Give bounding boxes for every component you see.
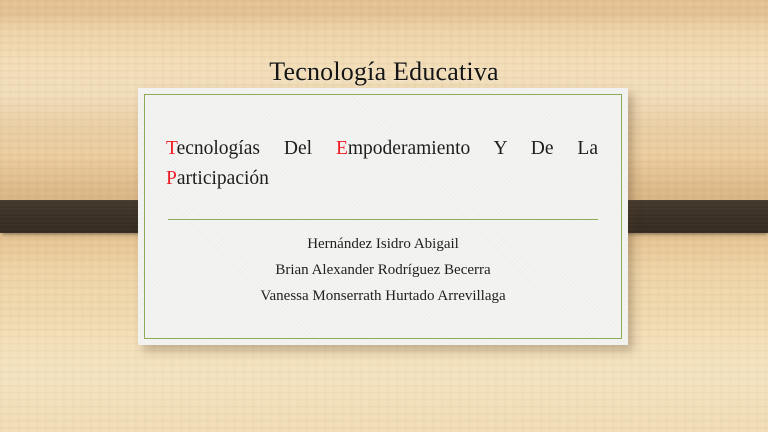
title-accent-letter: E <box>336 138 348 159</box>
list-item: Vanessa Monserrath Hurtado Arrevillaga <box>158 283 608 309</box>
card-body: Tecnologías Del Empoderamiento Y De La P… <box>138 88 628 345</box>
author-list: Hernández Isidro Abigail Brian Alexander… <box>158 231 608 309</box>
main-title-text: Tecnologías Del Empoderamiento Y De La P… <box>166 138 598 189</box>
decorative-bar-right <box>618 200 768 233</box>
list-item: Brian Alexander Rodríguez Becerra <box>158 257 608 283</box>
title-accent-letter: P <box>166 168 177 189</box>
title-segment: ecnologías Del <box>177 138 336 159</box>
title-segment: mpoderamiento Y De La <box>348 138 598 159</box>
title-segment: articipación <box>177 168 269 189</box>
slide-heading: Tecnología Educativa <box>0 56 768 88</box>
title-accent-letter: T <box>166 138 177 159</box>
main-title: Tecnologías Del Empoderamiento Y De La P… <box>166 134 598 194</box>
content-card: Tecnologías Del Empoderamiento Y De La P… <box>138 88 628 345</box>
presentation-slide: Tecnología Educativa Tecnologías Del Emp… <box>0 0 768 432</box>
list-item: Hernández Isidro Abigail <box>158 231 608 257</box>
decorative-bar-left <box>0 200 152 233</box>
title-divider <box>168 219 598 220</box>
